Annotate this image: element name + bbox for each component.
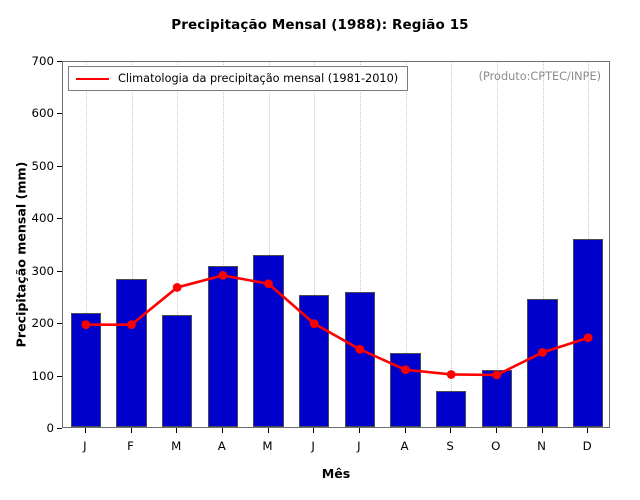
x-axis-label: Mês bbox=[62, 466, 610, 481]
plot-inner bbox=[63, 62, 609, 427]
x-tick-mark bbox=[85, 428, 86, 433]
x-tick-label: J bbox=[83, 439, 86, 453]
x-axis: JFMAMJJASOND Mês bbox=[62, 428, 610, 488]
climatology-marker-9 bbox=[492, 371, 501, 380]
x-tick-label: D bbox=[583, 439, 592, 453]
x-tick-mark bbox=[131, 428, 132, 433]
y-tick-label: 300 bbox=[31, 264, 54, 278]
climatology-marker-2 bbox=[173, 283, 182, 292]
chart-root: Precipitação Mensal (1988): Região 15 Pr… bbox=[0, 0, 640, 500]
climatology-marker-11 bbox=[584, 333, 593, 342]
x-tick-mark bbox=[587, 428, 588, 433]
climatology-polyline bbox=[86, 275, 588, 375]
x-tick-mark bbox=[268, 428, 269, 433]
x-tick-mark bbox=[405, 428, 406, 433]
x-tick-mark bbox=[542, 428, 543, 433]
x-tick-label: A bbox=[218, 439, 226, 453]
legend-label: Climatologia da precipitação mensal (198… bbox=[118, 72, 398, 85]
x-tick-label: J bbox=[311, 439, 314, 453]
y-tick-label: 400 bbox=[31, 211, 54, 225]
y-tick-label: 600 bbox=[31, 106, 54, 120]
x-tick-mark bbox=[496, 428, 497, 433]
legend: Climatologia da precipitação mensal (198… bbox=[68, 66, 408, 91]
y-axis: Precipitação mensal (mm) 010020030040050… bbox=[0, 61, 62, 429]
y-tick-label: 500 bbox=[31, 159, 54, 173]
climatology-marker-5 bbox=[310, 319, 319, 328]
x-tick-label: M bbox=[171, 439, 181, 453]
x-tick-mark bbox=[359, 428, 360, 433]
x-tick-label: M bbox=[262, 439, 272, 453]
climatology-marker-0 bbox=[81, 320, 90, 329]
x-tick-mark bbox=[313, 428, 314, 433]
y-tick-label: 200 bbox=[31, 316, 54, 330]
climatology-marker-6 bbox=[355, 345, 364, 354]
y-tick-label: 100 bbox=[31, 369, 54, 383]
x-tick-label: A bbox=[400, 439, 408, 453]
climatology-marker-8 bbox=[447, 370, 456, 379]
y-tick-label: 0 bbox=[46, 421, 54, 435]
chart-title: Precipitação Mensal (1988): Região 15 bbox=[0, 17, 640, 33]
x-tick-label: J bbox=[357, 439, 360, 453]
plot-area: Climatologia da precipitação mensal (198… bbox=[62, 61, 610, 428]
climatology-marker-3 bbox=[218, 271, 227, 280]
climatology-marker-10 bbox=[538, 348, 547, 357]
climatology-line bbox=[63, 62, 609, 427]
x-tick-label: N bbox=[537, 439, 546, 453]
x-tick-mark bbox=[450, 428, 451, 433]
x-tick-label: F bbox=[127, 439, 134, 453]
x-tick-mark bbox=[222, 428, 223, 433]
climatology-marker-7 bbox=[401, 365, 410, 374]
y-axis-label: Precipitação mensal (mm) bbox=[14, 130, 29, 380]
x-tick-label: S bbox=[446, 439, 454, 453]
x-tick-mark bbox=[176, 428, 177, 433]
climatology-marker-4 bbox=[264, 279, 273, 288]
climatology-marker-1 bbox=[127, 320, 136, 329]
y-tick-label: 700 bbox=[31, 54, 54, 68]
x-tick-label: O bbox=[491, 439, 500, 453]
product-annotation: (Produto:CPTEC/INPE) bbox=[479, 70, 601, 83]
legend-line-swatch bbox=[76, 78, 109, 80]
